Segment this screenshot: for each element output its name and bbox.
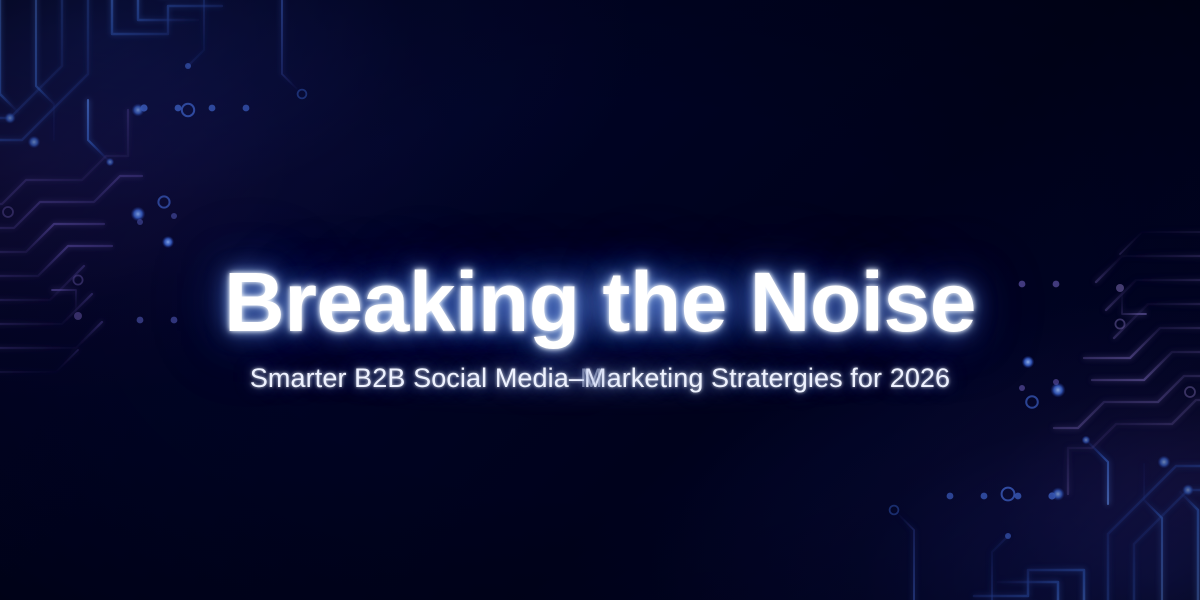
slide-subtitle: Smarter B2B Social Media–Marketing Strat…: [250, 363, 950, 394]
subtitle-text-after: arketing Stratergies for 2026: [607, 363, 951, 393]
slide-title: Breaking the Noise: [224, 258, 976, 347]
subtitle-ghost-letter: M: [584, 363, 607, 394]
subtitle-block: Smarter B2B Social Media–Marketing Strat…: [250, 363, 950, 394]
title-slide: Breaking the Noise Smarter B2B Social Me…: [0, 0, 1200, 600]
slide-content: Breaking the Noise Smarter B2B Social Me…: [0, 258, 1200, 394]
subtitle-text-before: Smarter B2B Social Media–: [250, 363, 584, 393]
title-block: Breaking the Noise: [224, 258, 976, 347]
